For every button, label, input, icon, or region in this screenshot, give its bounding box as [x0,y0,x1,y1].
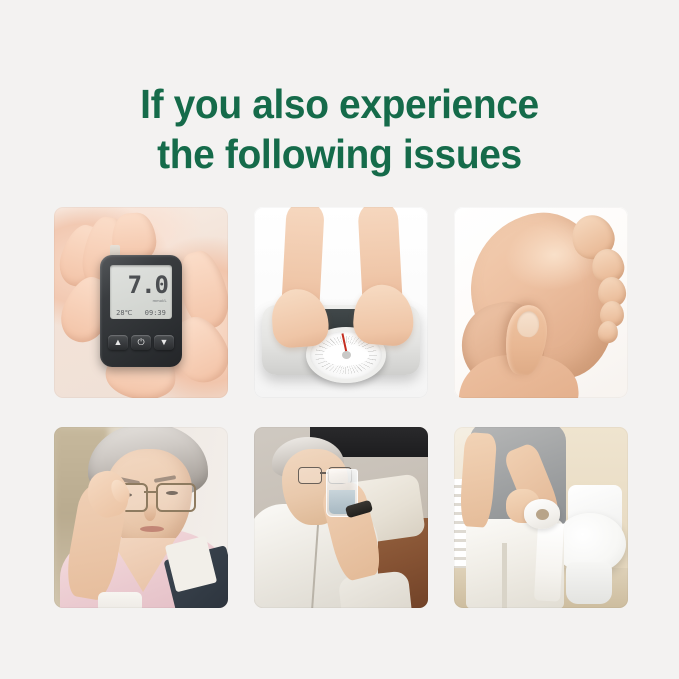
page-title-line-2: the following issues [17,129,662,179]
meter-down-button[interactable]: ▼ [154,335,174,350]
symptom-card-frequent-urination [454,427,628,608]
mouth [140,526,164,532]
meter-status-row: 28℃ 09:39 [110,309,172,317]
symptom-card-blood-glucose-meter: 7.0 mmol/L 28℃ 09:39 ▲ ⏻ ▼ [54,207,228,398]
glasses-bridge [144,491,156,493]
symptom-card-bathroom-scale [254,207,428,398]
meter-power-button[interactable]: ⏻ [131,335,151,350]
photo-blood-glucose-meter: 7.0 mmol/L 28℃ 09:39 ▲ ⏻ ▼ [54,207,228,398]
meter-up-button[interactable]: ▲ [108,335,128,350]
toilet-paper-roll [524,499,560,529]
shorts-seam [502,543,507,608]
page-title-line-1: If you also experience [17,79,662,129]
meter-reading-unit: mmol/L [153,298,167,303]
toilet-base [566,562,612,604]
symptom-card-blurred-vision [54,427,228,608]
toilet-paper-sheet [534,522,564,601]
poster-page: If you also experience the following iss… [0,0,679,679]
photo-excessive-thirst [254,427,428,608]
symptom-image-grid: 7.0 mmol/L 28℃ 09:39 ▲ ⏻ ▼ [54,207,628,608]
cup [98,592,142,608]
photo-frequent-urination [454,427,628,608]
meter-reading-value: 7.0 [128,273,168,297]
meter-lcd-screen: 7.0 mmol/L 28℃ 09:39 [110,265,172,319]
lens-left [298,467,322,484]
symptom-card-excessive-thirst [254,427,428,608]
glucose-meter-device: 7.0 mmol/L 28℃ 09:39 ▲ ⏻ ▼ [100,255,182,367]
lens-right [156,483,196,512]
meter-temperature: 28℃ [116,309,132,317]
meter-time: 09:39 [145,309,166,317]
page-title: If you also experience the following iss… [17,79,662,179]
photo-blurred-vision [54,427,228,608]
toilet-paper-core [536,509,549,520]
dial-hub [342,351,351,359]
photo-foot-pain [454,207,628,398]
symptom-card-foot-pain [454,207,628,398]
thumb-nail [516,310,541,339]
toes-group [562,217,624,337]
photo-bathroom-scale [254,207,428,398]
